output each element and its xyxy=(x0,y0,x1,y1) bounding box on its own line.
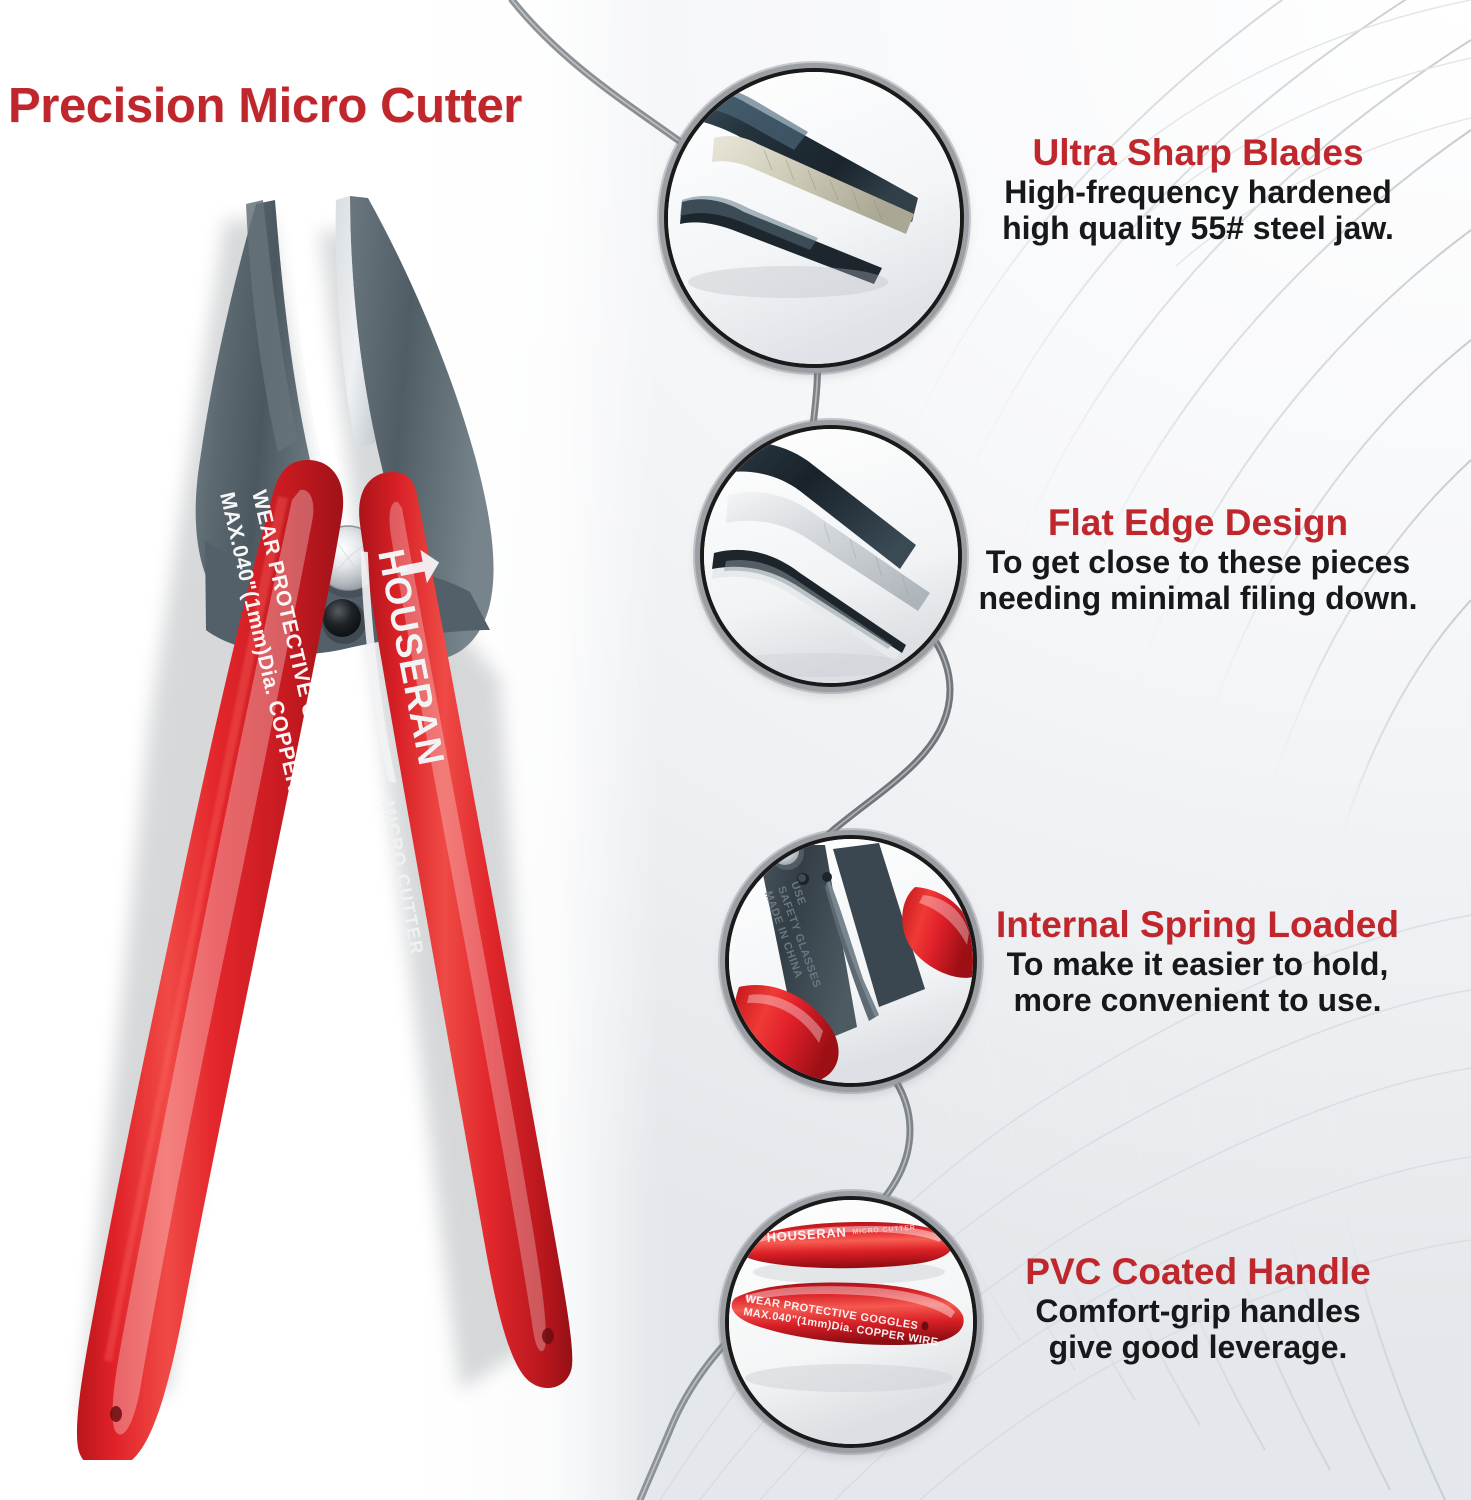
feature-body-line1: Comfort-grip handles xyxy=(938,1294,1458,1330)
feature-body-line1: To make it easier to hold, xyxy=(930,947,1465,983)
feature-pvc-coated-handle: PVC Coated Handle Comfort-grip handles g… xyxy=(938,1252,1458,1366)
feature-heading: Ultra Sharp Blades xyxy=(938,133,1458,173)
feature-body: To make it easier to hold, more convenie… xyxy=(930,947,1465,1019)
product-photo-micro-cutter: WEAR PROTECTIVE GOGGLES MAX.040"(1mm)Dia… xyxy=(20,160,640,1460)
feature-flat-edge-design: Flat Edge Design To get close to these p… xyxy=(938,503,1458,617)
callout-photo-ultra-sharp-blades xyxy=(664,68,964,368)
page-title: Precision Micro Cutter xyxy=(8,78,522,134)
feature-heading: PVC Coated Handle xyxy=(938,1252,1458,1292)
feature-body-line2: give good leverage. xyxy=(938,1330,1458,1366)
callout-photo-flat-edge-design xyxy=(700,425,962,687)
feature-heading: Flat Edge Design xyxy=(938,503,1458,543)
feature-body-line1: To get close to these pieces xyxy=(938,545,1458,581)
feature-body-line2: high quality 55# steel jaw. xyxy=(938,211,1458,247)
feature-body: High-frequency hardened high quality 55#… xyxy=(938,175,1458,247)
feature-body-line1: High-frequency hardened xyxy=(938,175,1458,211)
feature-heading: Internal Spring Loaded xyxy=(930,905,1465,945)
feature-internal-spring-loaded: Internal Spring Loaded To make it easier… xyxy=(930,905,1465,1019)
feature-body-line2: more convenient to use. xyxy=(930,983,1465,1019)
feature-body: Comfort-grip handles give good leverage. xyxy=(938,1294,1458,1366)
feature-ultra-sharp-blades: Ultra Sharp Blades High-frequency harden… xyxy=(938,133,1458,247)
feature-body-line2: needing minimal filing down. xyxy=(938,581,1458,617)
feature-body: To get close to these pieces needing min… xyxy=(938,545,1458,617)
infographic-canvas: Precision Micro Cutter xyxy=(0,0,1471,1500)
